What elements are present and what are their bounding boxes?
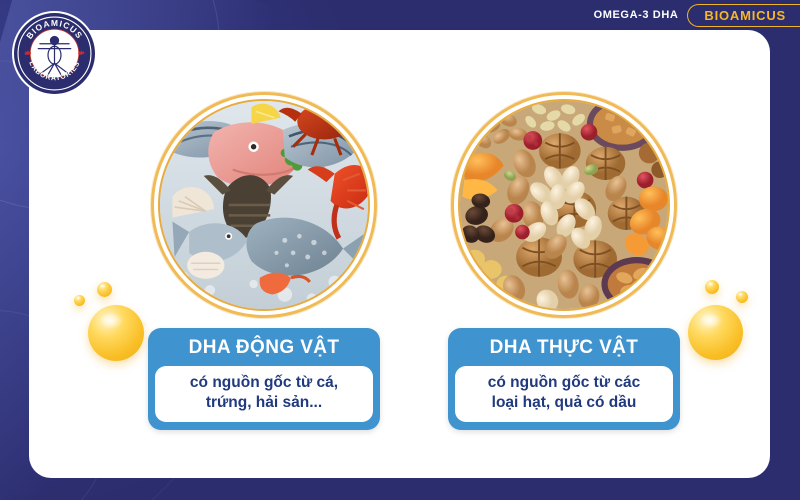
- label-block-plant: DHA THỰC VẬT có nguồn gốc từ cácloại hạt…: [448, 328, 680, 430]
- panel-dha-animal: DHA ĐỘNG VẬT có nguồn gốc từ cá,trứng, h…: [114, 30, 414, 478]
- label-block-animal: DHA ĐỘNG VẬT có nguồn gốc từ cá,trứng, h…: [148, 328, 380, 430]
- vitruvian-man-icon: BIOAMICUS LABORATORIES: [14, 11, 95, 96]
- nuts-photo: [460, 101, 668, 309]
- brand-logo: BIOAMICUS LABORATORIES: [12, 11, 97, 96]
- label-subtitle-plant: có nguồn gốc từ cácloại hạt, quả có dầu: [455, 366, 673, 422]
- gold-ring-inner-plant: [458, 99, 670, 311]
- label-title-plant: DHA THỰC VẬT: [455, 335, 673, 366]
- header-bar: OMEGA-3 DHA BIOAMICUS: [0, 0, 800, 30]
- circle-frame-plant: [451, 92, 677, 318]
- label-subtitle-animal: có nguồn gốc từ cá,trứng, hải sản...: [155, 366, 373, 422]
- gold-ring-inner-animal: [158, 99, 370, 311]
- panels-container: DHA ĐỘNG VẬT có nguồn gốc từ cá,trứng, h…: [29, 30, 770, 478]
- seafood-photo: [160, 101, 368, 309]
- header-topic-label: OMEGA-3 DHA: [594, 9, 679, 21]
- panel-dha-plant: DHA THỰC VẬT có nguồn gốc từ cácloại hạt…: [414, 30, 714, 478]
- header-brand-pill: BIOAMICUS: [687, 4, 800, 27]
- label-title-animal: DHA ĐỘNG VẬT: [155, 335, 373, 366]
- circle-frame-animal: [151, 92, 377, 318]
